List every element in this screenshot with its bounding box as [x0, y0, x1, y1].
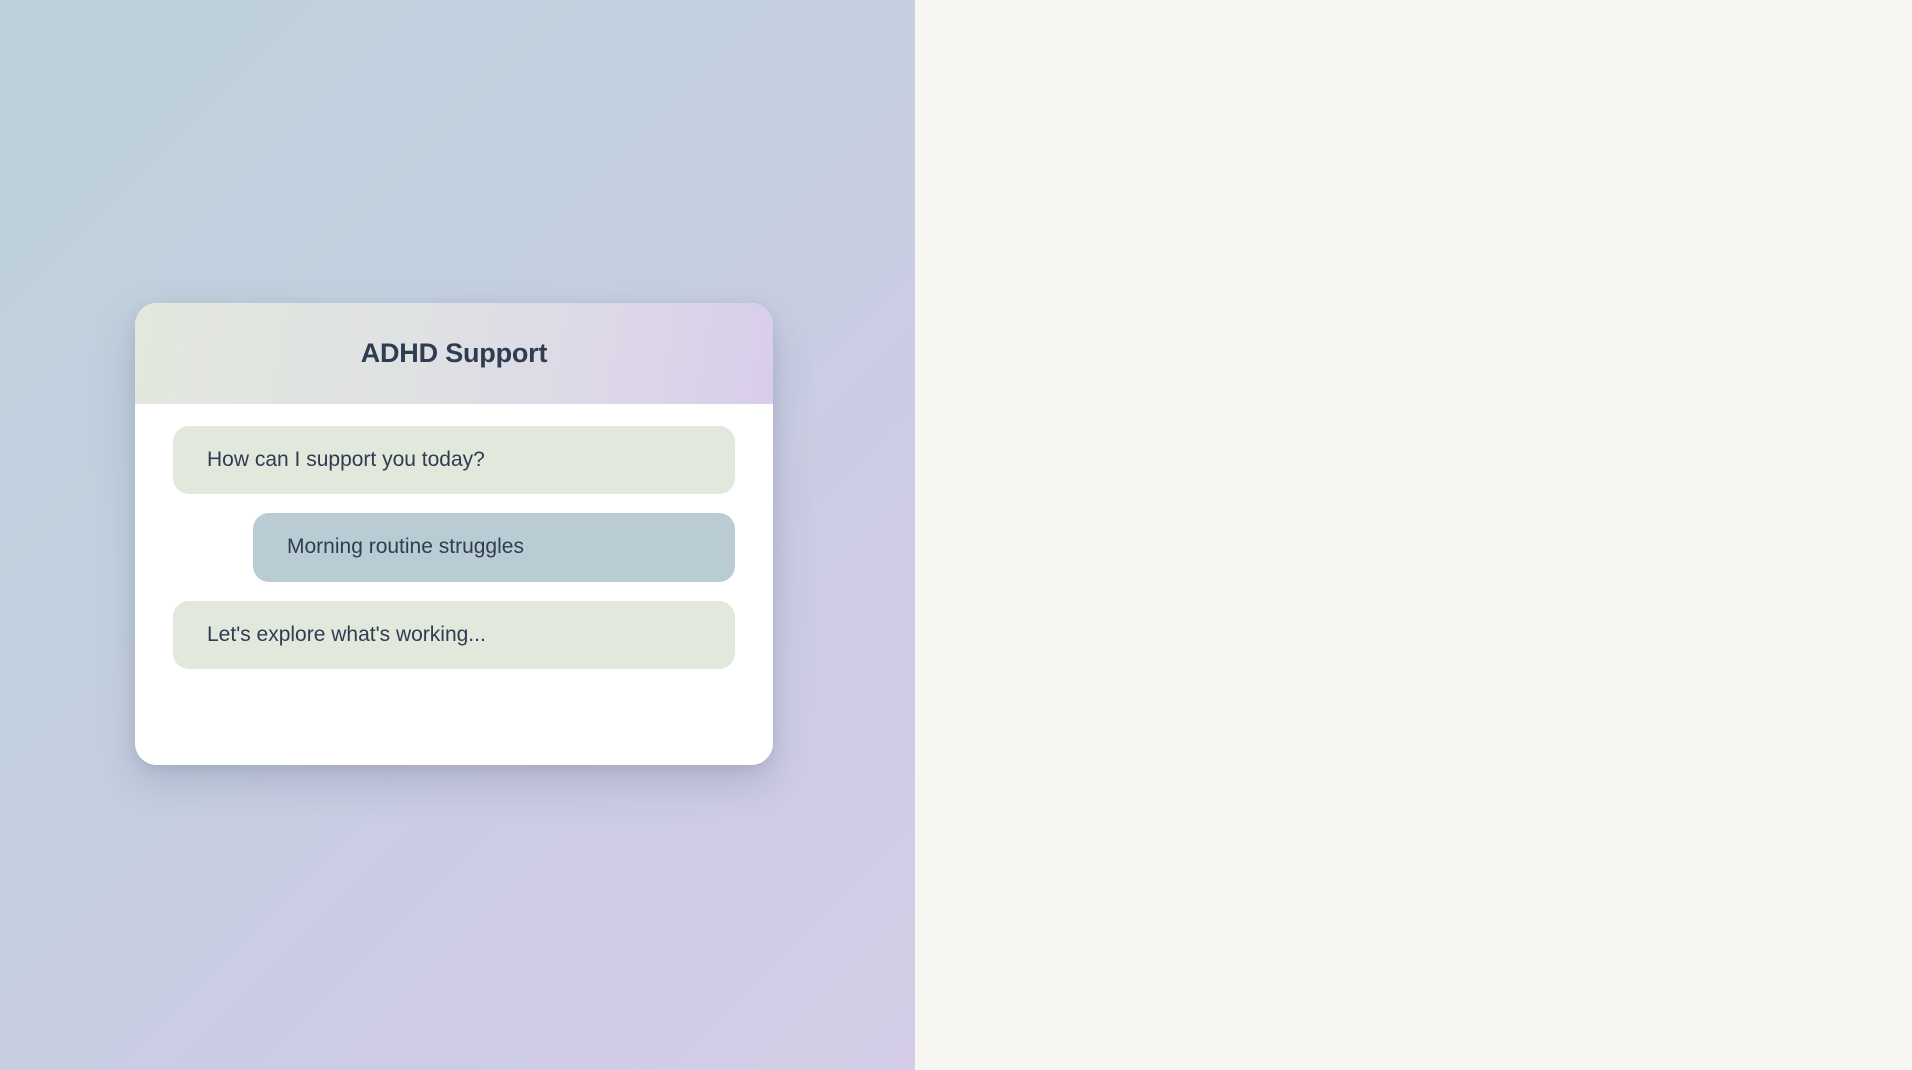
chat-bubble-bot: How can I support you today?	[173, 426, 735, 494]
chat-mockup-card: ADHD Support How can I support you today…	[135, 303, 773, 765]
chat-message-list: How can I support you today? Morning rou…	[135, 404, 773, 765]
chat-card-header: ADHD Support	[135, 303, 773, 404]
right-content-panel: Our Solution 24/7 AI-powered coaching us…	[915, 0, 1912, 1070]
chat-header-title: ADHD Support	[361, 338, 548, 369]
slide-root: ADHD Support How can I support you today…	[0, 0, 1912, 1070]
chat-bubble-bot: Let's explore what's working...	[173, 601, 735, 669]
left-visual-panel: ADHD Support How can I support you today…	[0, 0, 915, 1070]
chat-bubble-user: Morning routine struggles	[253, 513, 735, 581]
